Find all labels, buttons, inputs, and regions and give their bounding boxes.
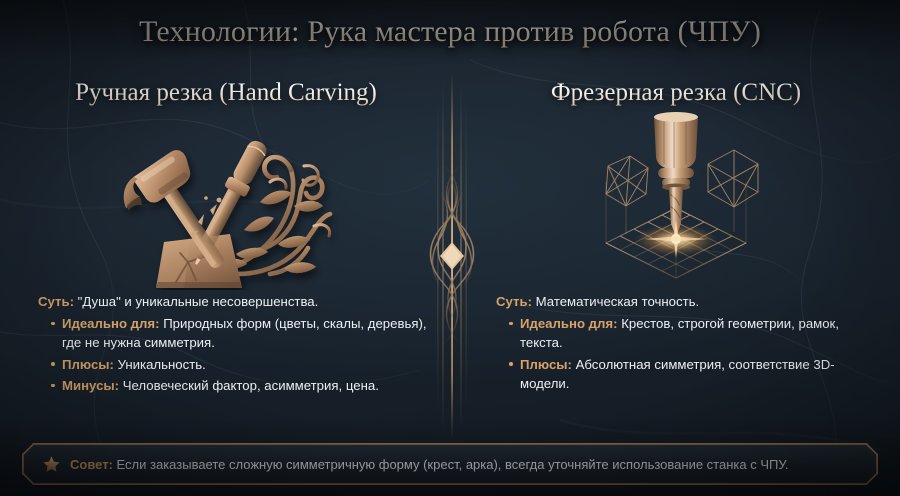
list-item: Идеально для: Крестов, строгой геометрии… bbox=[509, 314, 870, 352]
cnc-details: Суть: Математическая точность. Идеально … bbox=[496, 292, 870, 395]
lead-label: Суть: bbox=[496, 294, 532, 309]
list-item: Идеально для: Природных форм (цветы, ска… bbox=[51, 314, 430, 352]
list-item: Минусы: Человеческий фактор, асимметрия,… bbox=[51, 376, 430, 395]
star-icon bbox=[42, 455, 61, 474]
lead-text: "Душа" и уникальные несовершенства. bbox=[78, 294, 319, 309]
points-list: Идеально для: Крестов, строгой геометрии… bbox=[496, 314, 870, 393]
point-text: Уникальность. bbox=[118, 357, 206, 372]
cnc-spindle-drill-wireframe-grid-illustration bbox=[578, 112, 774, 292]
hammer-chisel-stone-ornament-illustration bbox=[118, 122, 344, 290]
lead-line: Суть: "Душа" и уникальные несовершенства… bbox=[38, 292, 430, 311]
point-label: Минусы: bbox=[62, 378, 119, 393]
infographic-slide: Технологии: Рука мастера против робота (… bbox=[0, 0, 900, 496]
page-title: Технологии: Рука мастера против робота (… bbox=[0, 15, 900, 49]
ornamental-vertical-divider bbox=[428, 72, 476, 440]
lead-text: Математическая точность. bbox=[536, 294, 700, 309]
list-item: Плюсы: Абсолютная симметрия, соответстви… bbox=[509, 355, 870, 393]
lead-label: Суть: bbox=[38, 294, 74, 309]
list-item: Плюсы: Уникальность. bbox=[51, 355, 430, 374]
cnc-spindle bbox=[654, 112, 698, 236]
wireframe-polyhedron-right bbox=[708, 150, 758, 232]
point-label: Плюсы: bbox=[62, 357, 114, 372]
points-list: Идеально для: Природных форм (цветы, ска… bbox=[38, 314, 430, 395]
column-heading-cnc: Фрезерная резка (CNC) bbox=[452, 79, 900, 107]
point-label: Идеально для: bbox=[520, 316, 618, 331]
hand-carving-details: Суть: "Душа" и уникальные несовершенства… bbox=[38, 292, 430, 398]
lead-line: Суть: Математическая точность. bbox=[496, 292, 870, 311]
diamond-ornament-icon bbox=[440, 242, 464, 270]
point-text: Человеческий фактор, асимметрия, цена. bbox=[123, 378, 379, 393]
tip-text: Совет: Если заказываете сложную симметри… bbox=[70, 457, 788, 472]
wireframe-polyhedron-left bbox=[606, 156, 648, 234]
cutting-spark-glow bbox=[636, 220, 716, 258]
point-label: Идеально для: bbox=[62, 316, 160, 331]
tip-banner: Совет: Если заказываете сложную симметри… bbox=[22, 443, 878, 485]
tip-label: Совет: bbox=[70, 457, 113, 472]
point-label: Плюсы: bbox=[520, 357, 572, 372]
tip-body: Если заказываете сложную симметричную фо… bbox=[117, 457, 789, 472]
column-heading-hand-carving: Ручная резка (Hand Carving) bbox=[0, 79, 452, 107]
